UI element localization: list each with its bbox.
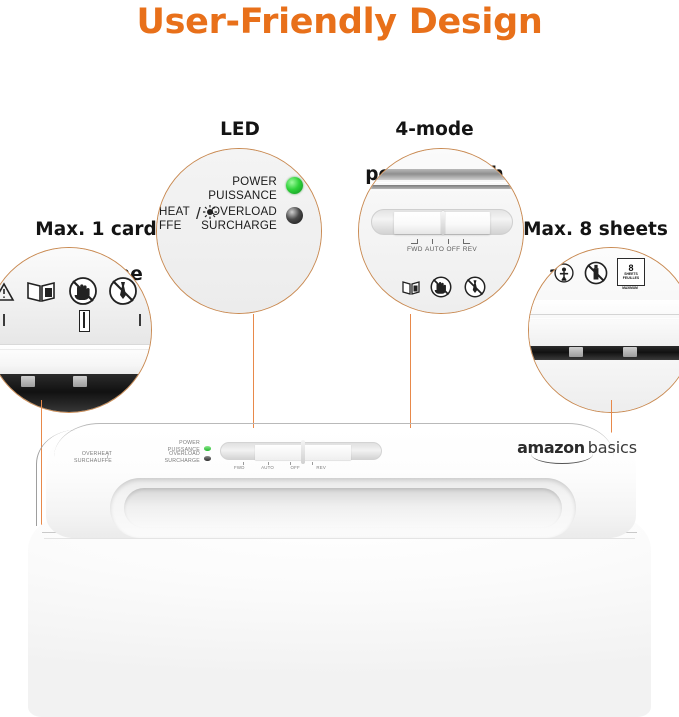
mode-label-fwd: FWD [407,246,423,253]
product-overload-led [204,456,211,461]
callout-bubble-switch-content: FWD AUTO OFF REV [359,149,523,313]
power-switch-track[interactable] [371,209,513,235]
mode-label-auto: AUTO [425,246,444,253]
warning-triangle-icon [0,282,15,302]
sheets-maximum-label: MAXIMUM [617,286,643,290]
brand-secondary: basics [588,438,637,457]
callout-label-sheets-line1: Max. 8 sheets [512,219,679,242]
product-panel-separator: / [107,453,109,462]
paper-shredder-product-image: POWER PUISSANCE OVERHEAT SURCHAUFFE OVER… [28,420,651,717]
product-overload-label: OVERLOAD SURCHARGE [114,451,200,464]
read-manual-icon-partial [401,279,421,297]
product-mode-fwd: FWD [234,465,245,470]
led-power-en: POWER [181,175,277,189]
product-mode-rev: REV [316,465,326,470]
no-children-icon-partial [553,262,575,284]
led-power-fr: PUISSANCE [181,189,277,203]
mode-labels: FWD AUTO OFF REV [407,246,477,253]
no-tie-icon-partial [463,275,487,299]
no-hands-icon [67,275,99,307]
eight-sheets-max-icon: 8 SHEETS FEUILLES [617,258,645,286]
callout-label-led-line1: LED [150,119,330,142]
product-mode-off: OFF [290,465,299,470]
shredder-bin-seam-highlight [44,538,635,579]
no-children-icon [143,275,152,307]
no-spray-icon [583,260,609,286]
paper-feed-slot-opening[interactable] [124,488,562,528]
no-hands-icon-partial [429,275,453,299]
led-overload-fr: SURCHARGE [181,219,277,233]
no-tie-icon [107,275,139,307]
mode-label-rev: REV [463,246,477,253]
product-overload-fr: SURCHARGE [114,458,200,465]
callout-bubble-card-content [0,248,151,412]
callout-bubble-led: POWER PUISSANCE HEAT FFE / OVERLOAD SURC… [156,148,322,314]
product-overheat-fr: SURCHAUFFE [46,458,112,465]
page-title: User-Friendly Design [0,2,679,42]
callout-bubble-led-content: POWER PUISSANCE HEAT FFE / OVERLOAD SURC… [157,149,321,313]
callout-bubble-switch: FWD AUTO OFF REV [358,148,524,314]
led-power-indicator [286,177,303,194]
infographic-canvas: User-Friendly Design Max. 1 card at a ti… [0,0,679,717]
callout-bubble-sheets-content: 8 SHEETS FEUILLES MAXIMUM [529,248,679,412]
product-mode-labels: FWD AUTO OFF REV [234,465,326,470]
callout-bubble-card [0,247,152,413]
product-switch-nub [301,440,305,464]
mode-label-off: OFF [447,246,461,253]
led-overload-indicator [286,207,303,224]
product-overheat-label: OVERHEAT SURCHAUFFE [46,451,112,464]
callout-label-switch-line1: 4-mode [352,119,517,142]
callout-bubble-sheets: 8 SHEETS FEUILLES MAXIMUM [528,247,679,413]
product-power-led [204,446,211,451]
led-power-label: POWER PUISSANCE [181,175,277,202]
sheets-label-fr: FEUILLES [623,277,639,281]
led-overload-label: OVERLOAD SURCHARGE [181,205,277,232]
product-power-switch[interactable] [220,442,382,460]
read-manual-icon [25,278,57,304]
power-switch-nub [441,211,445,235]
led-overload-en: OVERLOAD [181,205,277,219]
product-mode-auto: AUTO [261,465,274,470]
